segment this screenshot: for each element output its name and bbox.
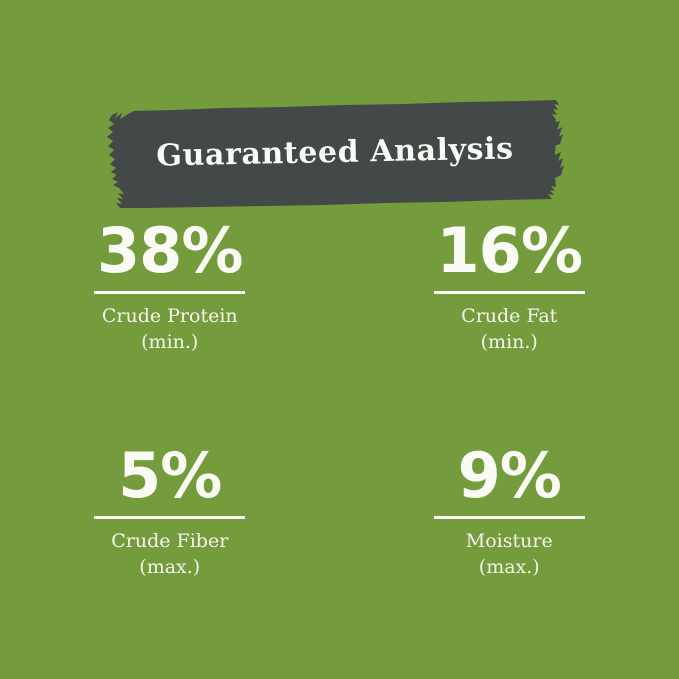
stats-row-bottom: 5% Crude Fiber (max.) 9% Moisture (max.) <box>0 443 679 580</box>
stat-qualifier: (max.) <box>479 554 540 580</box>
banner: Guaranteed Analysis <box>104 99 566 209</box>
stat-label: Crude Fiber <box>111 528 228 554</box>
stat-crude-fat: 16% Crude Fat (min.) <box>340 218 679 355</box>
stat-divider <box>94 291 245 294</box>
stat-label: Crude Fat <box>461 303 557 329</box>
stat-divider <box>434 291 585 294</box>
stat-qualifier: (max.) <box>139 554 200 580</box>
stat-value: 9% <box>458 443 561 509</box>
banner-title: Guaranteed Analysis <box>103 94 567 213</box>
stat-value: 16% <box>437 218 582 284</box>
stat-crude-fiber: 5% Crude Fiber (max.) <box>0 443 340 580</box>
stat-divider <box>94 516 245 519</box>
stat-moisture: 9% Moisture (max.) <box>340 443 679 580</box>
stat-qualifier: (min.) <box>481 329 538 355</box>
stat-qualifier: (min.) <box>141 329 198 355</box>
stat-value: 5% <box>118 443 221 509</box>
stat-value: 38% <box>97 218 242 284</box>
guaranteed-analysis-infographic: Guaranteed Analysis 38% Crude Protein (m… <box>0 0 679 679</box>
stats-grid: 38% Crude Protein (min.) 16% Crude Fat (… <box>0 218 679 580</box>
stat-crude-protein: 38% Crude Protein (min.) <box>0 218 340 355</box>
stat-label: Moisture <box>466 528 553 554</box>
stats-row-top: 38% Crude Protein (min.) 16% Crude Fat (… <box>0 218 679 355</box>
stat-divider <box>434 516 585 519</box>
stat-label: Crude Protein <box>102 303 238 329</box>
